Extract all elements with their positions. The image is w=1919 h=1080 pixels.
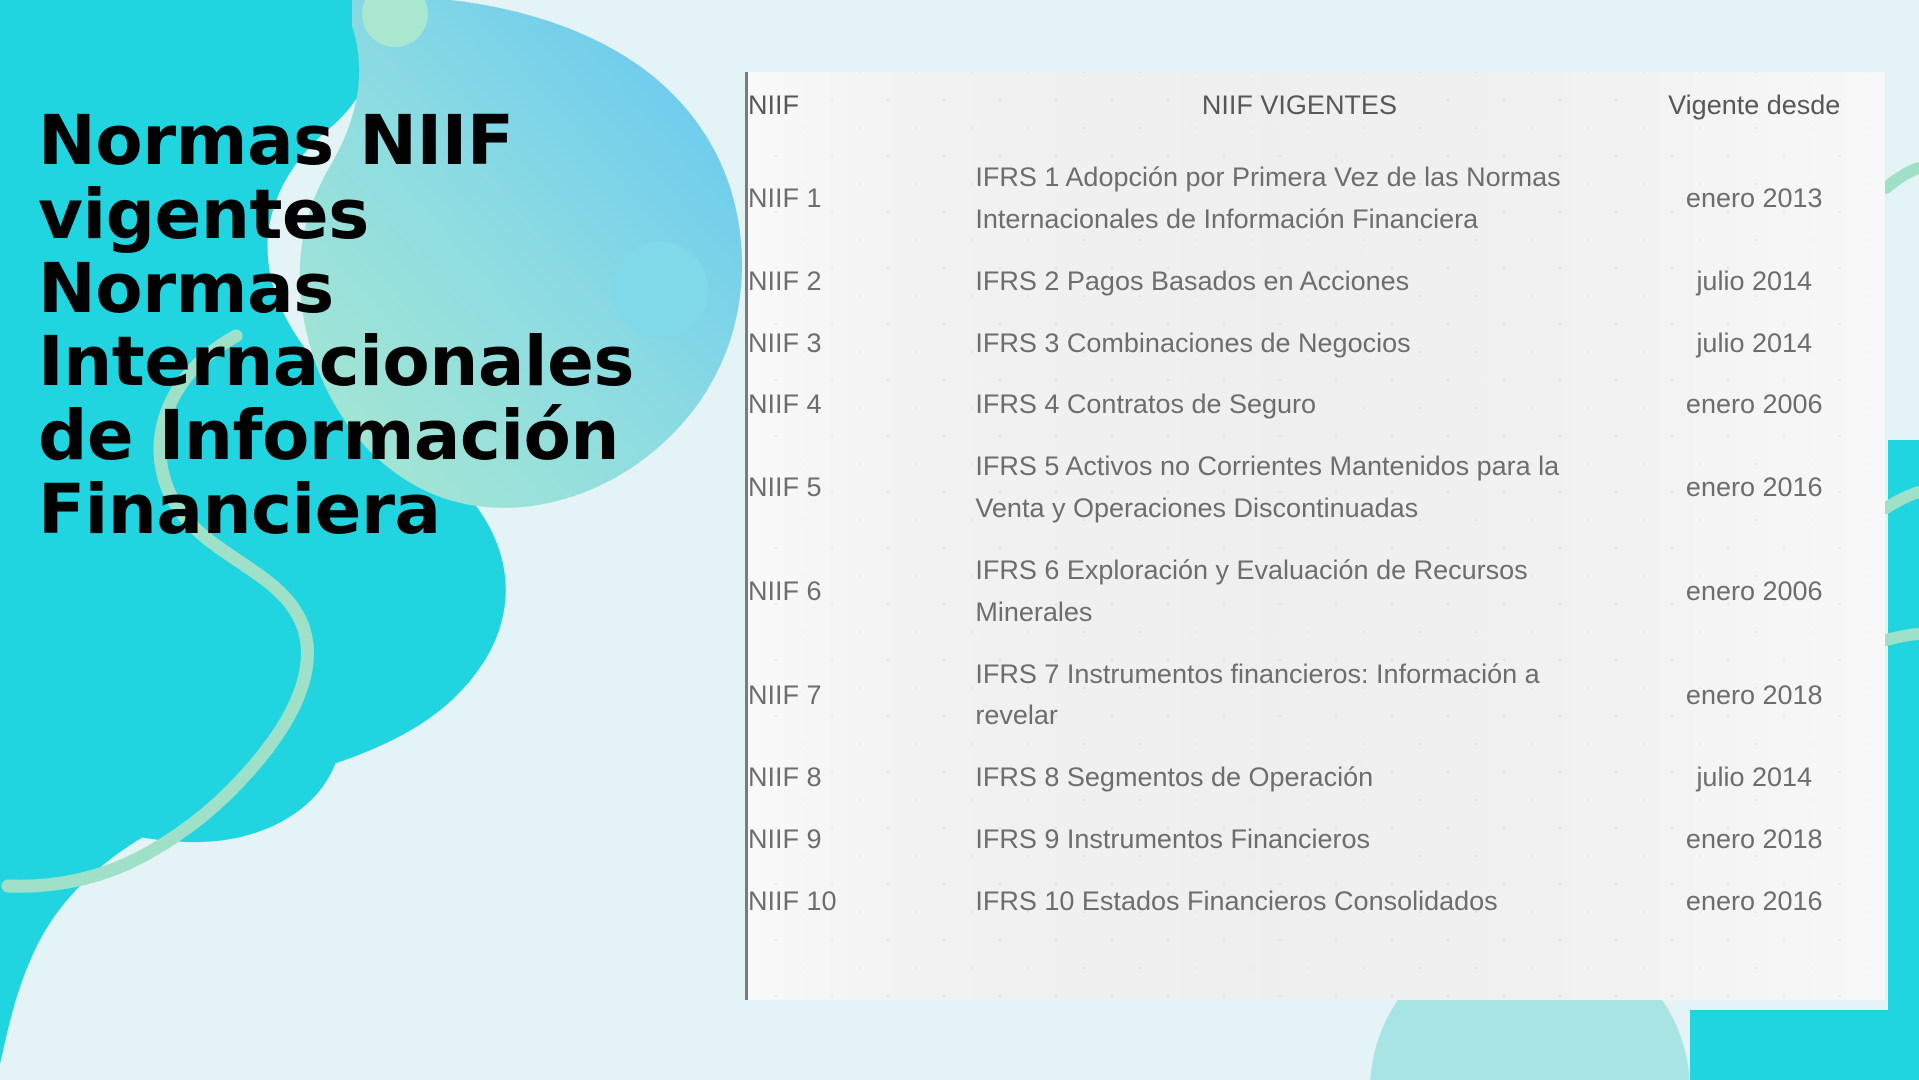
table-row: NIIF 8IFRS 8 Segmentos de Operaciónjulio… bbox=[748, 747, 1885, 809]
cell-niif-code: NIIF 10 bbox=[748, 871, 975, 933]
cell-effective-date: enero 2006 bbox=[1623, 540, 1885, 644]
table-row: NIIF 5IFRS 5 Activos no Corrientes Mante… bbox=[748, 436, 1885, 540]
mint-curve-right-mid bbox=[1886, 492, 1919, 508]
cell-effective-date: julio 2014 bbox=[1623, 747, 1885, 809]
cell-effective-date: enero 2018 bbox=[1623, 644, 1885, 748]
niif-table-panel: NIIF NIIF VIGENTES Vigente desde NIIF 1I… bbox=[745, 72, 1885, 1000]
cell-description: IFRS 10 Estados Financieros Consolidados bbox=[975, 871, 1623, 933]
column-header-date: Vigente desde bbox=[1623, 72, 1885, 147]
cell-niif-code: NIIF 9 bbox=[748, 809, 975, 871]
cell-effective-date: enero 2013 bbox=[1623, 147, 1885, 251]
cell-niif-code: NIIF 1 bbox=[748, 147, 975, 251]
cell-niif-code: NIIF 3 bbox=[748, 313, 975, 375]
mint-curve-right-lower bbox=[1886, 634, 1919, 640]
cell-effective-date: julio 2014 bbox=[1623, 313, 1885, 375]
column-header-description: NIIF VIGENTES bbox=[975, 72, 1623, 147]
cell-effective-date: enero 2016 bbox=[1623, 871, 1885, 933]
cell-description: IFRS 9 Instrumentos Financieros bbox=[975, 809, 1623, 871]
cell-effective-date: enero 2006 bbox=[1623, 374, 1885, 436]
table-body: NIIF 1IFRS 1 Adopción por Primera Vez de… bbox=[748, 147, 1885, 933]
table-row: NIIF 10IFRS 10 Estados Financieros Conso… bbox=[748, 871, 1885, 933]
cell-description: IFRS 4 Contratos de Seguro bbox=[975, 374, 1623, 436]
cell-effective-date: julio 2014 bbox=[1623, 251, 1885, 313]
column-header-code: NIIF bbox=[748, 72, 975, 147]
cell-description: IFRS 5 Activos no Corrientes Mantenidos … bbox=[975, 436, 1623, 540]
cyan-block-right bbox=[1888, 440, 1919, 1010]
niif-table: NIIF NIIF VIGENTES Vigente desde NIIF 1I… bbox=[748, 72, 1885, 933]
cell-effective-date: enero 2018 bbox=[1623, 809, 1885, 871]
cell-description: IFRS 6 Exploración y Evaluación de Recur… bbox=[975, 540, 1623, 644]
cell-niif-code: NIIF 5 bbox=[748, 436, 975, 540]
cell-description: IFRS 1 Adopción por Primera Vez de las N… bbox=[975, 147, 1623, 251]
mint-circle-top bbox=[362, 0, 428, 47]
cell-niif-code: NIIF 7 bbox=[748, 644, 975, 748]
table-row: NIIF 6IFRS 6 Exploración y Evaluación de… bbox=[748, 540, 1885, 644]
title-block: Normas NIIF vigentes Normas Internaciona… bbox=[38, 105, 628, 548]
mint-curve-right-upper bbox=[1886, 168, 1919, 188]
cell-niif-code: NIIF 8 bbox=[748, 747, 975, 809]
cyan-lobe-lower bbox=[0, 549, 342, 842]
table-row: NIIF 4IFRS 4 Contratos de Seguroenero 20… bbox=[748, 374, 1885, 436]
table-row: NIIF 2IFRS 2 Pagos Basados en Accionesju… bbox=[748, 251, 1885, 313]
table-row: NIIF 1IFRS 1 Adopción por Primera Vez de… bbox=[748, 147, 1885, 251]
cell-description: IFRS 7 Instrumentos financieros: Informa… bbox=[975, 644, 1623, 748]
cell-description: IFRS 8 Segmentos de Operación bbox=[975, 747, 1623, 809]
cell-effective-date: enero 2016 bbox=[1623, 436, 1885, 540]
cell-niif-code: NIIF 6 bbox=[748, 540, 975, 644]
table-row: NIIF 9IFRS 9 Instrumentos Financierosene… bbox=[748, 809, 1885, 871]
table-row: NIIF 3IFRS 3 Combinaciones de Negociosju… bbox=[748, 313, 1885, 375]
table-header-row: NIIF NIIF VIGENTES Vigente desde bbox=[748, 72, 1885, 147]
cell-niif-code: NIIF 2 bbox=[748, 251, 975, 313]
cell-niif-code: NIIF 4 bbox=[748, 374, 975, 436]
cell-description: IFRS 3 Combinaciones de Negocios bbox=[975, 313, 1623, 375]
table-row: NIIF 7IFRS 7 Instrumentos financieros: I… bbox=[748, 644, 1885, 748]
cell-description: IFRS 2 Pagos Basados en Acciones bbox=[975, 251, 1623, 313]
page-title: Normas NIIF vigentes Normas Internaciona… bbox=[38, 105, 628, 548]
cyan-band-bottom bbox=[1690, 1010, 1919, 1080]
